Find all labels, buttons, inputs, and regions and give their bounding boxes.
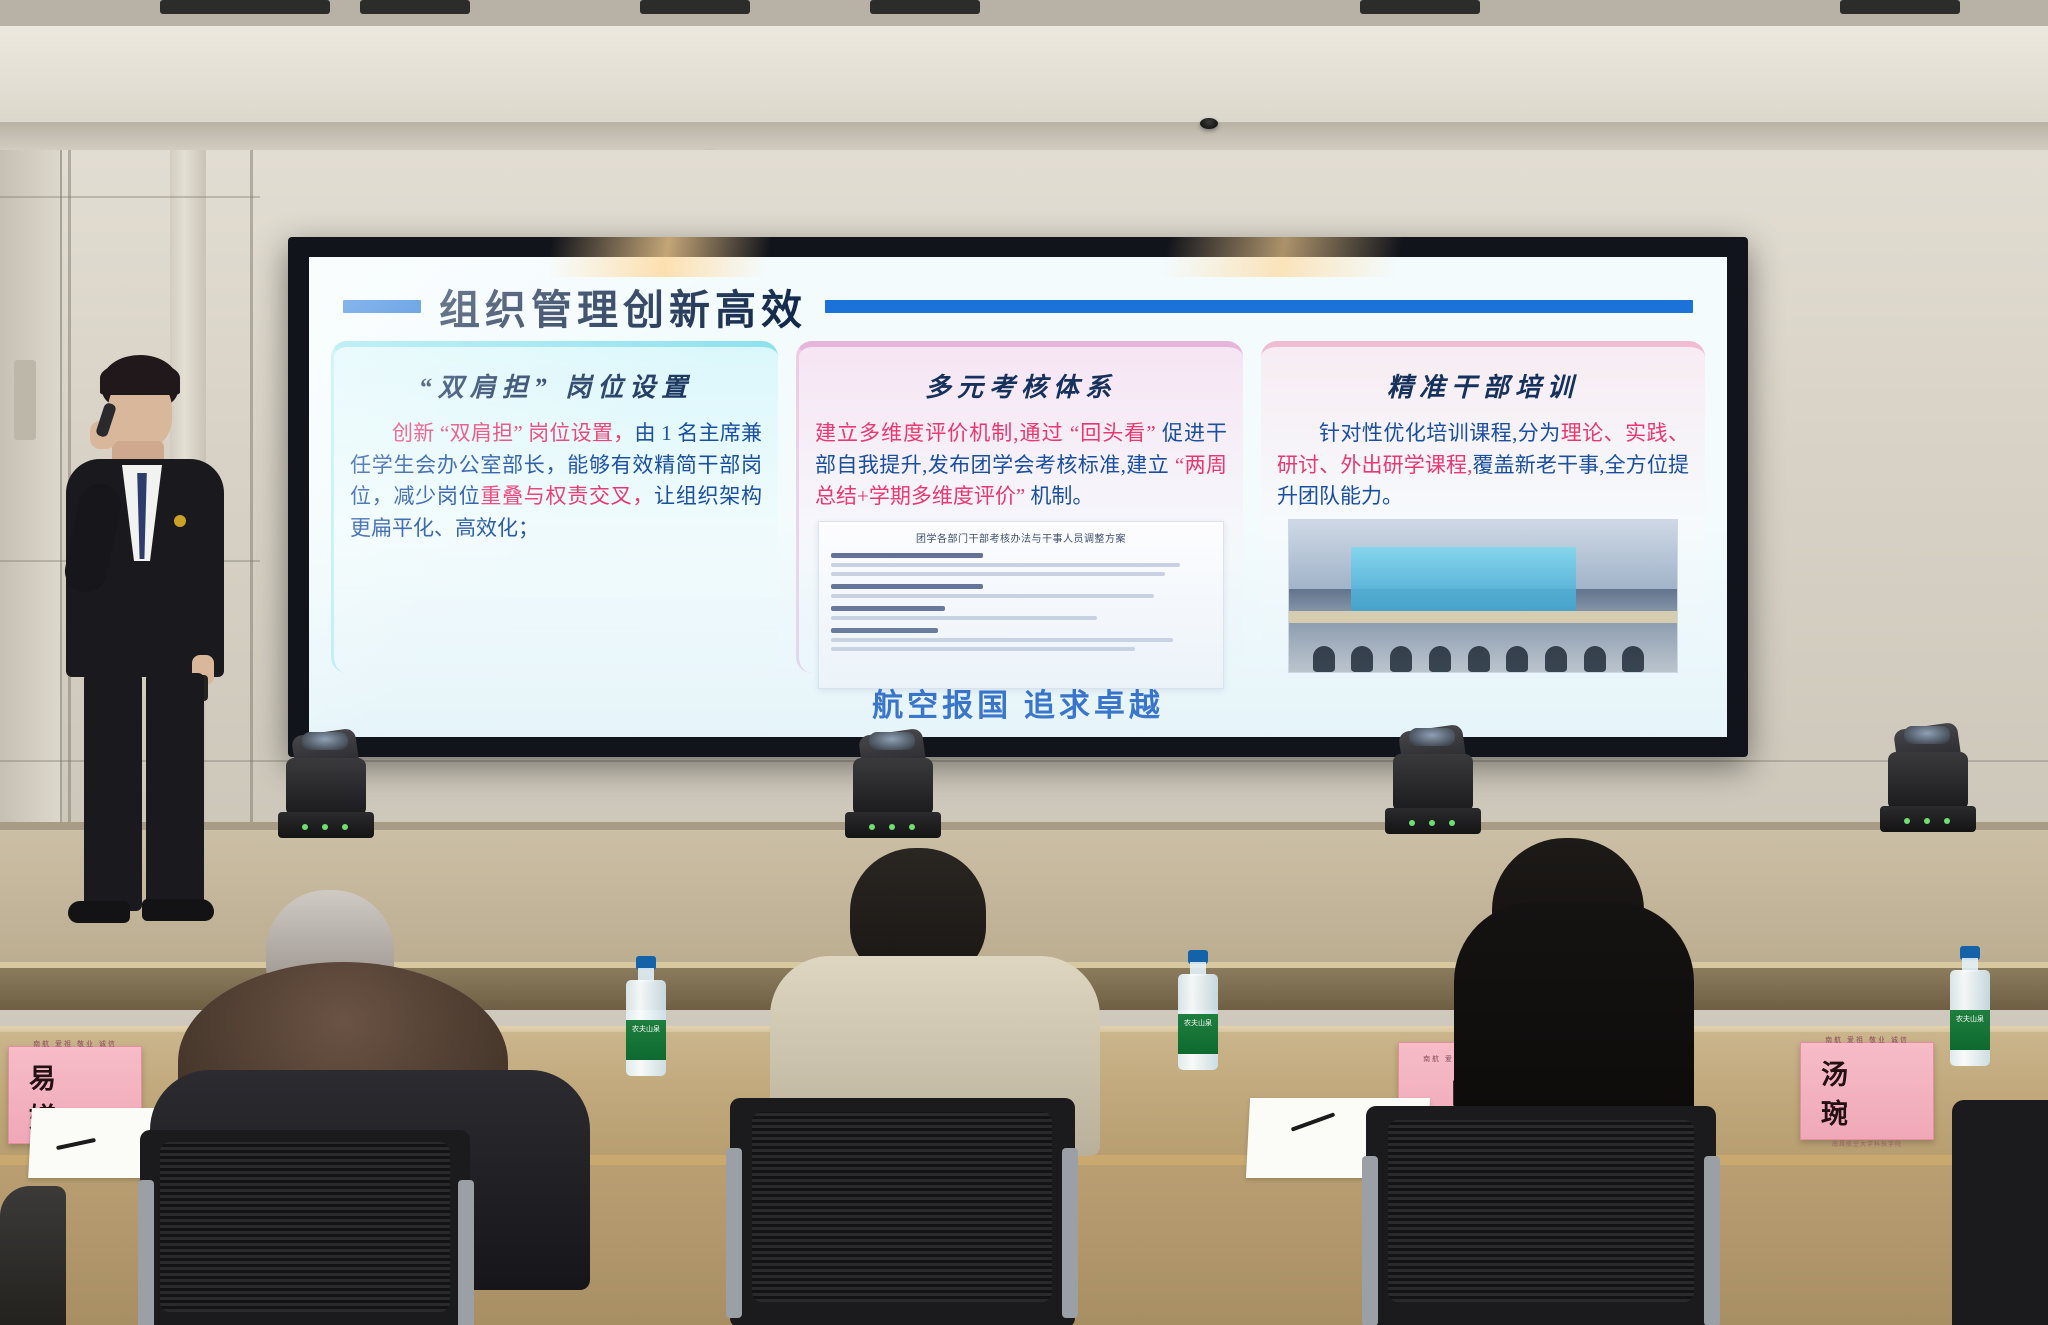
ceiling-track-1 <box>160 0 330 14</box>
presenter-hair-top <box>100 361 180 395</box>
ceiling-track-2 <box>360 0 470 14</box>
bottle-body-1: 农夫山泉 <box>626 980 666 1076</box>
card-3-text-a: 针对性优化培训课程,分为 <box>1319 421 1561 445</box>
ceiling-slab <box>0 26 2048 125</box>
card-1-text-c: 重叠与权责交叉， <box>480 484 654 508</box>
bottle-label-text-3: 农夫山泉 <box>1950 1010 1990 1024</box>
water-bottle-1: 农夫山泉 <box>626 958 666 1076</box>
slide-card-2: 多元考核体系 建立多维度评价机制,通过 “回头看” 促进干部自我提升,发布团学会… <box>796 341 1243 673</box>
audience-3-chair-mesh <box>1388 1120 1694 1302</box>
card-1-body: 创新 “双肩担” 岗位设置，由 1 名主席兼任学生会办公室部长，能够有效精简干部… <box>350 418 762 544</box>
document-thumbnail: 团学各部门干部考核办法与干事人员调整方案 <box>818 521 1223 689</box>
audience-member-1 <box>150 880 630 1325</box>
bottle-body-3: 农夫山泉 <box>1950 970 1990 1066</box>
slide-title: 组织管理创新高效 <box>439 276 807 336</box>
title-bar-left <box>343 300 421 313</box>
presenter-left-leg <box>84 673 142 911</box>
slide-card-3: 精准干部培训 针对性优化培训课程,分为理论、实践、研讨、外出研学课程,覆盖新老干… <box>1261 341 1705 673</box>
slide-card-1: “双肩担” 岗位设置 创新 “双肩担” 岗位设置，由 1 名主席兼任学生会办公室… <box>331 341 778 673</box>
water-bottle-3: 农夫山泉 <box>1950 948 1990 1066</box>
presenter-right-leg <box>146 673 204 911</box>
card-3-heading: 精准干部培训 <box>1277 367 1689 404</box>
doc-line <box>831 563 1180 567</box>
stage-light-4 <box>1880 712 1976 832</box>
card-2-text-a: 建立多维度评价机制,通过 “回头看” <box>815 421 1156 445</box>
audience-1-chair-arm-right <box>458 1180 474 1325</box>
photo-screen <box>1351 547 1576 611</box>
audience-1-chair-mesh <box>160 1142 450 1312</box>
bottle-label-3: 农夫山泉 <box>1950 1010 1990 1050</box>
wall-fixture <box>14 360 36 440</box>
doc-line <box>831 594 1153 598</box>
training-photo-thumbnail <box>1288 519 1677 673</box>
audience-member-3 <box>1380 838 1860 1325</box>
title-bar-right <box>825 300 1693 313</box>
doc-line <box>831 647 1134 651</box>
ceiling-track-5 <box>1360 0 1480 14</box>
document-thumbnail-title: 团学各部门干部考核办法与干事人员调整方案 <box>831 530 1210 545</box>
wall-left-column <box>0 150 62 850</box>
ceiling-shadow <box>0 122 2048 152</box>
stage-light-2 <box>845 718 941 838</box>
audience-3-chair-arm-right <box>1704 1156 1720 1325</box>
chair-partial-right <box>1952 1100 2048 1325</box>
audience-2-chair-mesh <box>752 1112 1052 1302</box>
ceiling-track-6 <box>1840 0 1960 14</box>
doc-section-1-heading <box>831 553 983 558</box>
doc-section-2-heading <box>831 584 983 589</box>
stage-light-1 <box>278 718 374 838</box>
bottle-label-1: 农夫山泉 <box>626 1020 666 1060</box>
audience-2-chair-arm-right <box>1062 1148 1078 1318</box>
auditorium-scene: 组织管理创新高效 “双肩担” 岗位设置 创新 “双肩担” 岗位设置，由 1 名主… <box>0 0 2048 1325</box>
audience-member-4-partial <box>0 1186 66 1325</box>
presentation-slide: 组织管理创新高效 “双肩担” 岗位设置 创新 “双肩担” 岗位设置，由 1 名主… <box>309 257 1727 737</box>
card-1-text-a: 创新 “双肩担” 岗位设置， <box>392 421 634 445</box>
card-2-heading: 多元考核体系 <box>815 367 1227 404</box>
led-screen-frame: 组织管理创新高效 “双肩担” 岗位设置 创新 “双肩担” 岗位设置，由 1 名主… <box>288 237 1748 757</box>
presenter <box>60 355 260 945</box>
card-1-heading: “双肩担” 岗位设置 <box>350 367 762 404</box>
audience-2-chair-arm <box>726 1148 742 1318</box>
audience-3-chair-arm <box>1362 1156 1378 1325</box>
card-3-body: 针对性优化培训课程,分为理论、实践、研讨、外出研学课程,覆盖新老干事,全方位提升… <box>1277 418 1689 513</box>
doc-line <box>831 638 1172 642</box>
nameplate-1-top: 南航 爱祖 敬业 诚信 <box>33 1039 117 1049</box>
card-2-body: 建立多维度评价机制,通过 “回头看” 促进干部自我提升,发布团学会考核标准,建立… <box>815 418 1227 513</box>
slide-title-row: 组织管理创新高效 <box>343 279 1693 333</box>
audience-member-2 <box>740 848 1220 1325</box>
presenter-lapel-pin <box>174 515 186 527</box>
stage-light-3 <box>1385 714 1481 834</box>
ceiling <box>0 0 2048 150</box>
wall-line-1 <box>0 196 260 198</box>
led-screen: 组织管理创新高效 “双肩担” 岗位设置 创新 “双肩担” 岗位设置，由 1 名主… <box>309 257 1727 737</box>
doc-section-4-heading <box>831 628 937 633</box>
ceiling-track-4 <box>870 0 980 14</box>
photo-audience <box>1289 620 1676 672</box>
bottle-label-text-1: 农夫山泉 <box>626 1020 666 1034</box>
ceiling-track-3 <box>640 0 750 14</box>
doc-line <box>831 572 1165 576</box>
doc-line <box>831 616 1096 620</box>
slide-columns: “双肩担” 岗位设置 创新 “双肩担” 岗位设置，由 1 名主席兼任学生会办公室… <box>331 341 1705 673</box>
audience-1-chair-arm <box>138 1180 154 1325</box>
slide-slogan: 航空报国 追求卓越 <box>309 680 1727 725</box>
presenter-left-shoe <box>68 901 130 923</box>
card-2-text-d: 机制。 <box>1025 484 1093 508</box>
ceiling-downlight-3 <box>1200 118 1218 129</box>
doc-section-3-heading <box>831 606 945 611</box>
